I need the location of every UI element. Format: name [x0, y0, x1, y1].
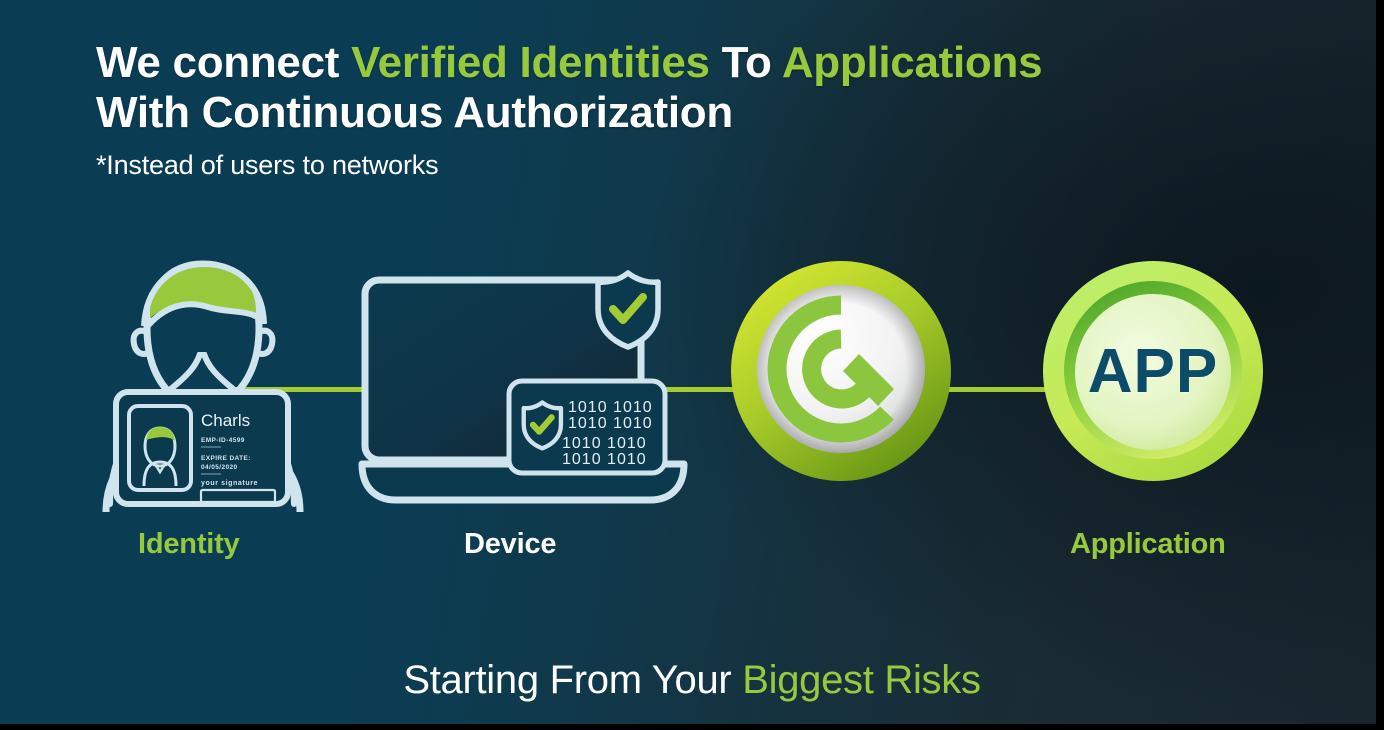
- node-label-identity: Identity: [138, 528, 240, 561]
- badge-employee-id-text: EMP-ID-4599: [201, 437, 245, 444]
- node-label-application: Application: [1070, 528, 1226, 561]
- title-part-1: Verified Identities: [351, 38, 710, 87]
- tagline-part-1: Biggest Risks: [742, 658, 980, 702]
- flow-diagram: Charls EMP-ID-4599 EXPIRE DATE: 04/05/20…: [0, 250, 1384, 520]
- node-device[interactable]: 1010 1010 1010 1010 1010 1010 1010 1010: [358, 268, 688, 513]
- badge-expire-date-text: 04/05/2020: [201, 464, 238, 471]
- binary-row-3: 1010 1010: [562, 451, 647, 468]
- node-label-device: Device: [464, 528, 556, 561]
- title-part-3: Applications: [782, 38, 1042, 87]
- node-application[interactable]: APP: [1040, 258, 1266, 484]
- node-identity[interactable]: Charls EMP-ID-4599 EXPIRE DATE: 04/05/20…: [88, 250, 318, 512]
- binary-row-1: 1010 1010: [568, 415, 653, 432]
- node-platform[interactable]: [728, 258, 954, 484]
- title-part-0: We connect: [96, 38, 351, 87]
- title-part-4: With Continuous Authorization: [96, 88, 733, 137]
- binary-row-0: 1010 1010: [568, 399, 653, 416]
- slide-canvas: We connect Verified Identities To Applic…: [0, 0, 1384, 730]
- app-coin-icon: [1040, 258, 1266, 484]
- badge-expire-label-text: EXPIRE DATE:: [201, 455, 251, 462]
- badge-name-text: Charls: [201, 411, 250, 430]
- page-subtitle: *Instead of users to networks: [96, 150, 1136, 181]
- footer-tagline: Starting From Your Biggest Risks: [0, 658, 1384, 703]
- id-badge-card[interactable]: Charls EMP-ID-4599 EXPIRE DATE: 04/05/20…: [88, 352, 318, 512]
- shield-check-icon: [592, 269, 664, 351]
- title-part-2: To: [710, 38, 782, 87]
- tagline-part-0: Starting From Your: [403, 658, 742, 702]
- node-label-row: Identity Device Application: [0, 528, 1384, 574]
- badge-signature-label-text: your signature: [201, 480, 258, 487]
- binary-data-panel: 1010 1010 1010 1010 1010 1010 1010 1010: [506, 378, 668, 476]
- page-title: We connect Verified Identities To Applic…: [96, 38, 1136, 138]
- binary-row-2: 1010 1010: [562, 435, 647, 452]
- title-block: We connect Verified Identities To Applic…: [96, 38, 1136, 181]
- company-c-logo-icon: [728, 258, 954, 484]
